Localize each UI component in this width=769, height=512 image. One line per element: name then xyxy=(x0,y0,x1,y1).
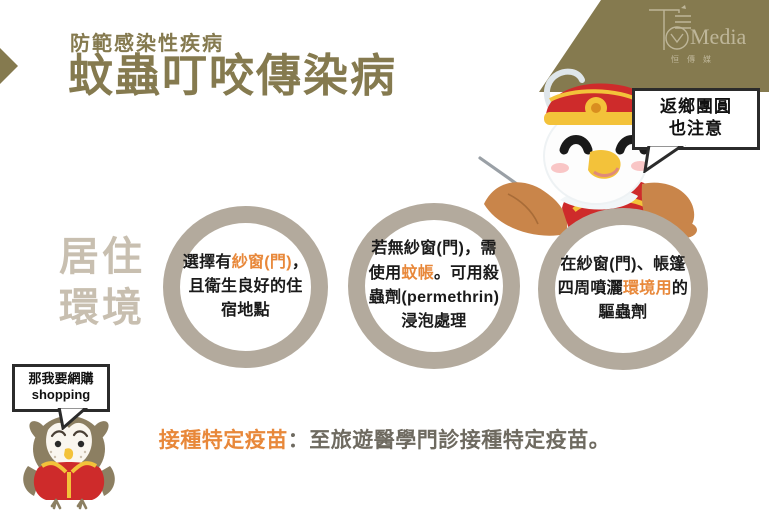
bubble-bottom-line2: shopping xyxy=(15,387,107,403)
infographic-canvas: Media 恒傳媒 防範感染性疾病 蚊蟲叮咬傳染病 xyxy=(0,0,769,512)
section-label-line1: 居住 xyxy=(42,232,162,283)
tip-circle-3-text: 在紗窗(門)、帳篷四周噴灑環境用的驅蟲劑 xyxy=(555,253,691,326)
tip-circle-1: 選擇有紗窗(門)，且衛生良好的住宿地點 xyxy=(163,206,328,368)
bubble-top-line2: 也注意 xyxy=(635,118,757,140)
speech-bubble-top: 返鄉團圓 也注意 xyxy=(632,88,760,150)
tip2-part1: 蚊帳 xyxy=(401,265,434,282)
speech-tail-icon xyxy=(643,145,687,173)
section-label: 居住 環境 xyxy=(42,232,162,334)
tip1-part0: 選擇有 xyxy=(183,254,232,271)
tip-circle-3: 在紗窗(門)、帳篷四周噴灑環境用的驅蟲劑 xyxy=(538,208,708,370)
tip-circle-2: 若無紗窗(門)，需使用蚊帳。可用殺蟲劑(permethrin)浸泡處理 xyxy=(348,203,520,369)
speech-tail-icon xyxy=(57,407,89,430)
tip-circle-2-text: 若無紗窗(門)，需使用蚊帳。可用殺蟲劑(permethrin)浸泡處理 xyxy=(365,237,503,334)
tip3-part1: 環境用 xyxy=(623,280,672,297)
tcmedia-logo-icon: Media 恒傳媒 xyxy=(637,4,755,66)
bubble-bottom-line1: 那我要網購 xyxy=(15,371,107,387)
bubble-top-line1: 返鄉團圓 xyxy=(635,96,757,118)
footer-note: 接種特定疫苗：至旅遊醫學門診接種特定疫苗。 xyxy=(0,424,769,454)
chevron-right-icon xyxy=(0,14,52,118)
section-label-line2: 環境 xyxy=(42,283,162,334)
svg-text:Media: Media xyxy=(690,24,746,49)
tip-circle-1-text: 選擇有紗窗(門)，且衛生良好的住宿地點 xyxy=(181,251,311,324)
speech-bubble-bottom: 那我要網購 shopping xyxy=(12,364,110,412)
page-title: 蚊蟲叮咬傳染病 xyxy=(68,52,397,99)
footer-rest: ：至旅遊醫學門診接種特定疫苗。 xyxy=(288,429,611,452)
tip1-part1: 紗窗(門) xyxy=(232,254,292,271)
footer-highlight: 接種特定疫苗 xyxy=(159,429,288,452)
